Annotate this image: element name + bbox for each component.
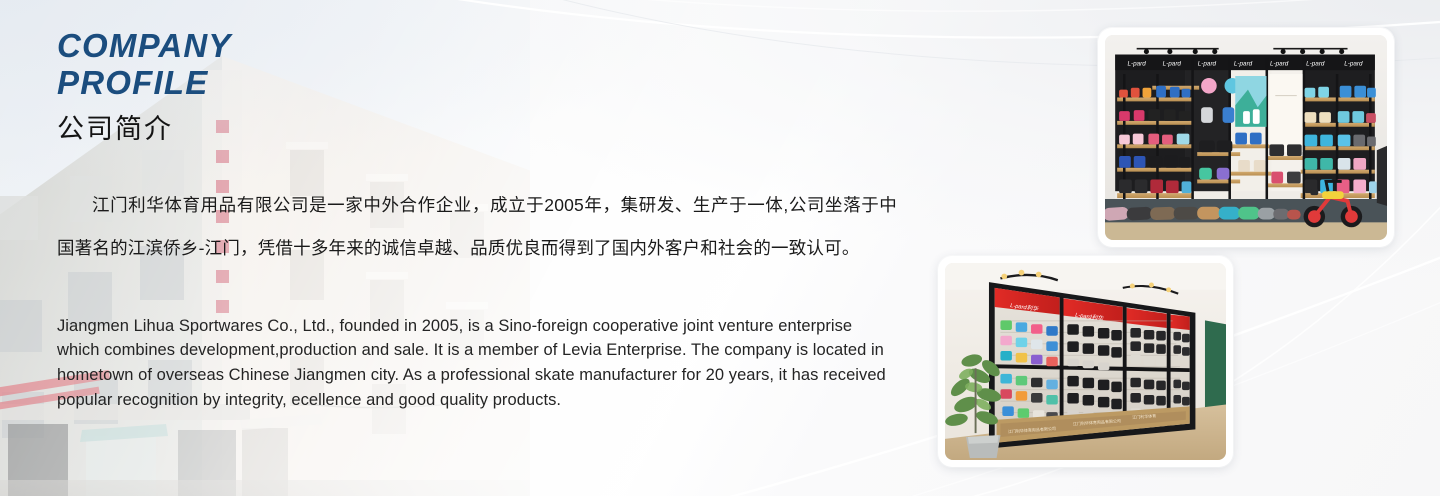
- photo-showroom-room[interactable]: L-pard利华 L-pard利华: [938, 256, 1233, 467]
- photo-showroom-room-image: L-pard利华 L-pard利华: [945, 263, 1226, 460]
- page-title-english: COMPANY PROFILE: [57, 27, 232, 101]
- svg-text:L-pard: L-pard: [1344, 60, 1363, 67]
- company-profile-banner: COMPANY PROFILE 公司简介 江门利华体育用品有限公司是一家中外合作…: [0, 0, 1440, 496]
- svg-text:L-pard: L-pard: [1128, 60, 1147, 67]
- svg-text:L-pard: L-pard: [1270, 60, 1289, 67]
- svg-text:L-pard: L-pard: [1163, 60, 1182, 67]
- svg-text:L-pard: L-pard: [1198, 60, 1217, 67]
- profile-text-block: COMPANY PROFILE 公司简介 江门利华体育用品有限公司是一家中外合作…: [0, 0, 960, 496]
- profile-paragraph-chinese: 江门利华体育用品有限公司是一家中外合作企业，成立于2005年，集研发、生产于一体…: [57, 184, 897, 270]
- profile-paragraph-english: Jiangmen Lihua Sportwares Co., Ltd., fou…: [57, 314, 895, 413]
- page-title-chinese: 公司简介: [57, 113, 173, 145]
- svg-text:L-pard: L-pard: [1234, 60, 1253, 67]
- photo-showroom-wall-image: L-pard L-pard L-pard L-pard L-pard L-par…: [1105, 35, 1387, 240]
- svg-text:L-pard: L-pard: [1306, 60, 1325, 67]
- photo-showroom-wall[interactable]: L-pard L-pard L-pard L-pard L-pard L-par…: [1098, 28, 1394, 247]
